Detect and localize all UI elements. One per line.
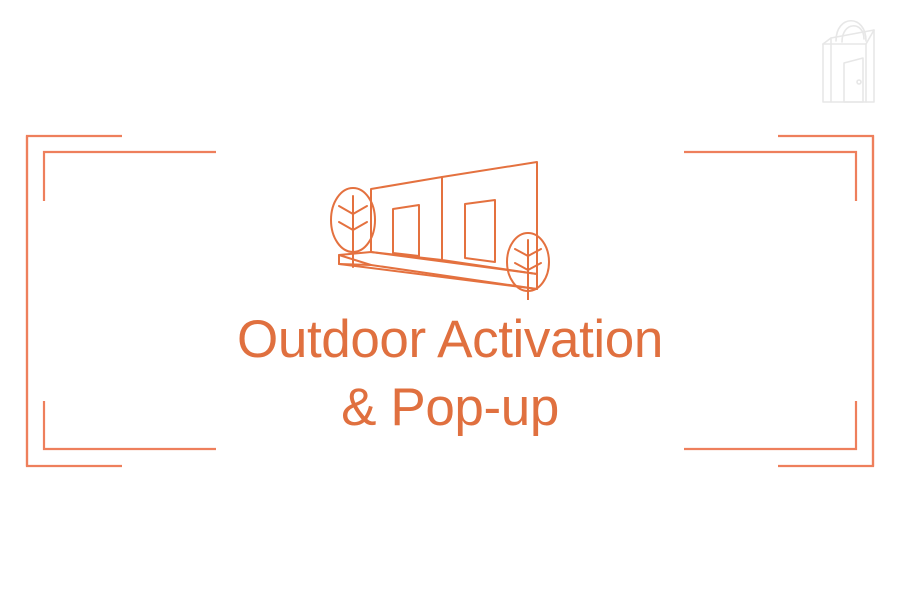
tree-left	[331, 188, 375, 267]
page-title: Outdoor Activation & Pop-up	[0, 306, 900, 442]
bag-door-knob	[857, 80, 861, 84]
facade-wall-right	[442, 162, 537, 274]
tree-right	[507, 233, 549, 300]
frame-corner-top-right-inner	[684, 152, 856, 201]
frame-corner-top-left-inner	[44, 152, 216, 201]
storefront-illustration	[325, 152, 575, 300]
frame-svg	[0, 0, 900, 600]
page-title-line-1: Outdoor Activation	[0, 306, 900, 374]
facade-wall-left	[371, 177, 442, 260]
slide-canvas: Outdoor Activation & Pop-up	[0, 0, 900, 600]
door-right	[465, 200, 495, 262]
platform-left-edge	[339, 264, 371, 265]
shopping-bag-svg	[814, 8, 892, 108]
door-left	[393, 205, 419, 256]
bag-side-face	[823, 38, 831, 102]
shopping-bag-icon	[814, 8, 892, 108]
page-title-line-2: & Pop-up	[0, 374, 900, 442]
decorative-corner-frame	[0, 0, 900, 600]
storefront-illustration-svg	[325, 152, 575, 300]
